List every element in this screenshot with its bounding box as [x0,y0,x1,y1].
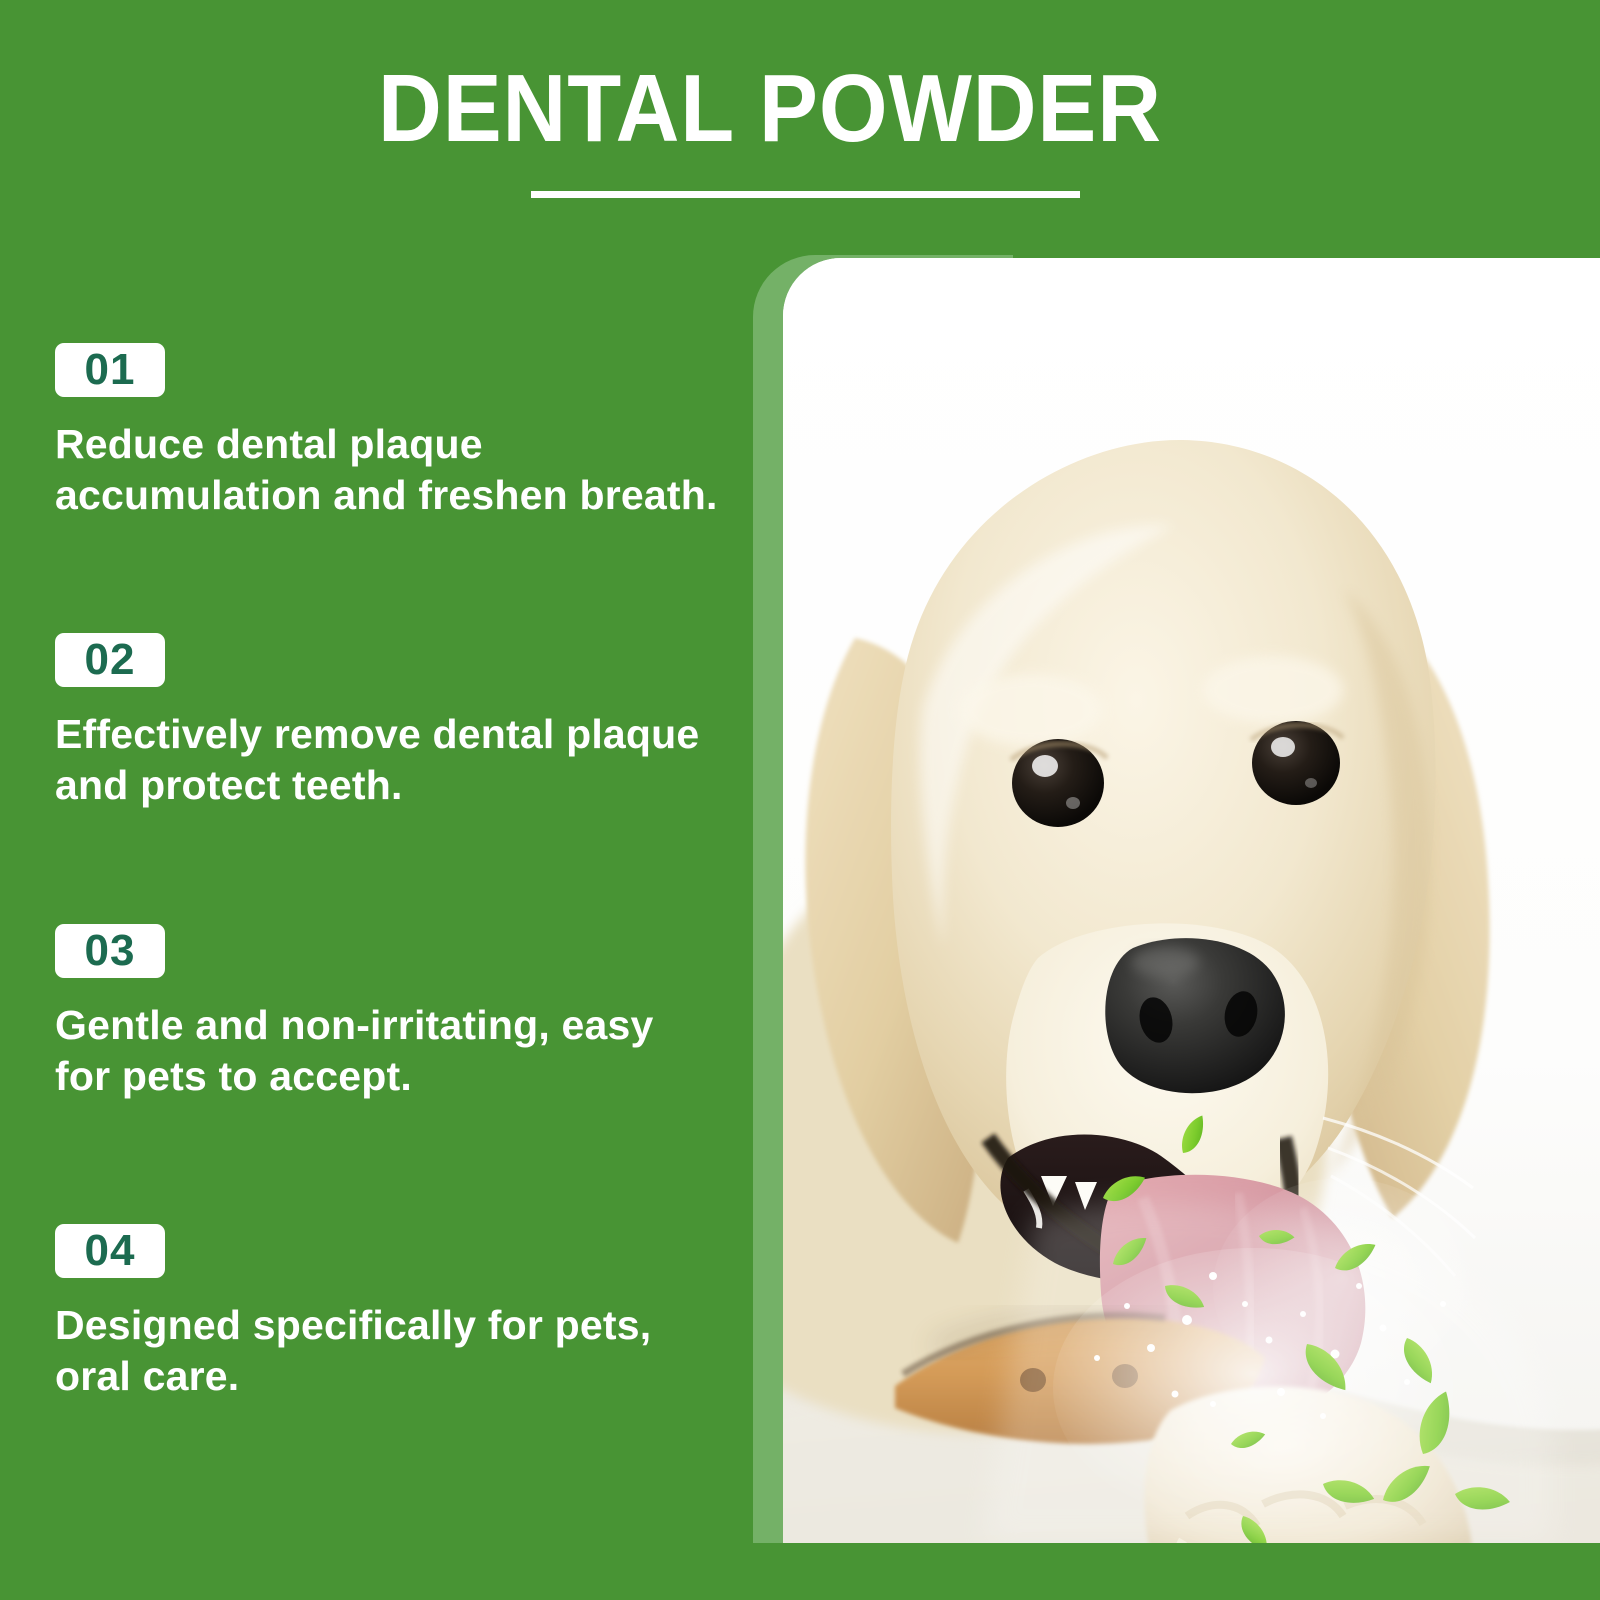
feature-item-04: 04 Designed specifically for pets, oral … [55,1224,735,1403]
title-underline-rule [531,191,1080,198]
feature-text-03: Gentle and non-irritating, easy for pets… [55,1000,735,1103]
product-infographic-poster: DENTAL POWDER [0,0,1600,1600]
feature-text-02: Effectively remove dental plaque and pro… [55,709,735,812]
poster-header: DENTAL POWDER [0,0,1600,230]
feature-item-01: 01 Reduce dental plaque accumulation and… [55,343,735,522]
product-photo [783,258,1600,1543]
feature-item-02: 02 Effectively remove dental plaque and … [55,633,735,812]
feature-text-04: Designed specifically for pets, oral car… [55,1300,735,1403]
feature-number-badge-01: 01 [55,343,165,397]
feature-text-01: Reduce dental plaque accumulation and fr… [55,419,735,522]
puppy-photo-illustration [783,258,1600,1543]
feature-number-badge-04: 04 [55,1224,165,1278]
page-title: DENTAL POWDER [62,58,1479,160]
feature-number-badge-02: 02 [55,633,165,687]
feature-number-badge-03: 03 [55,924,165,978]
feature-item-03: 03 Gentle and non-irritating, easy for p… [55,924,735,1103]
